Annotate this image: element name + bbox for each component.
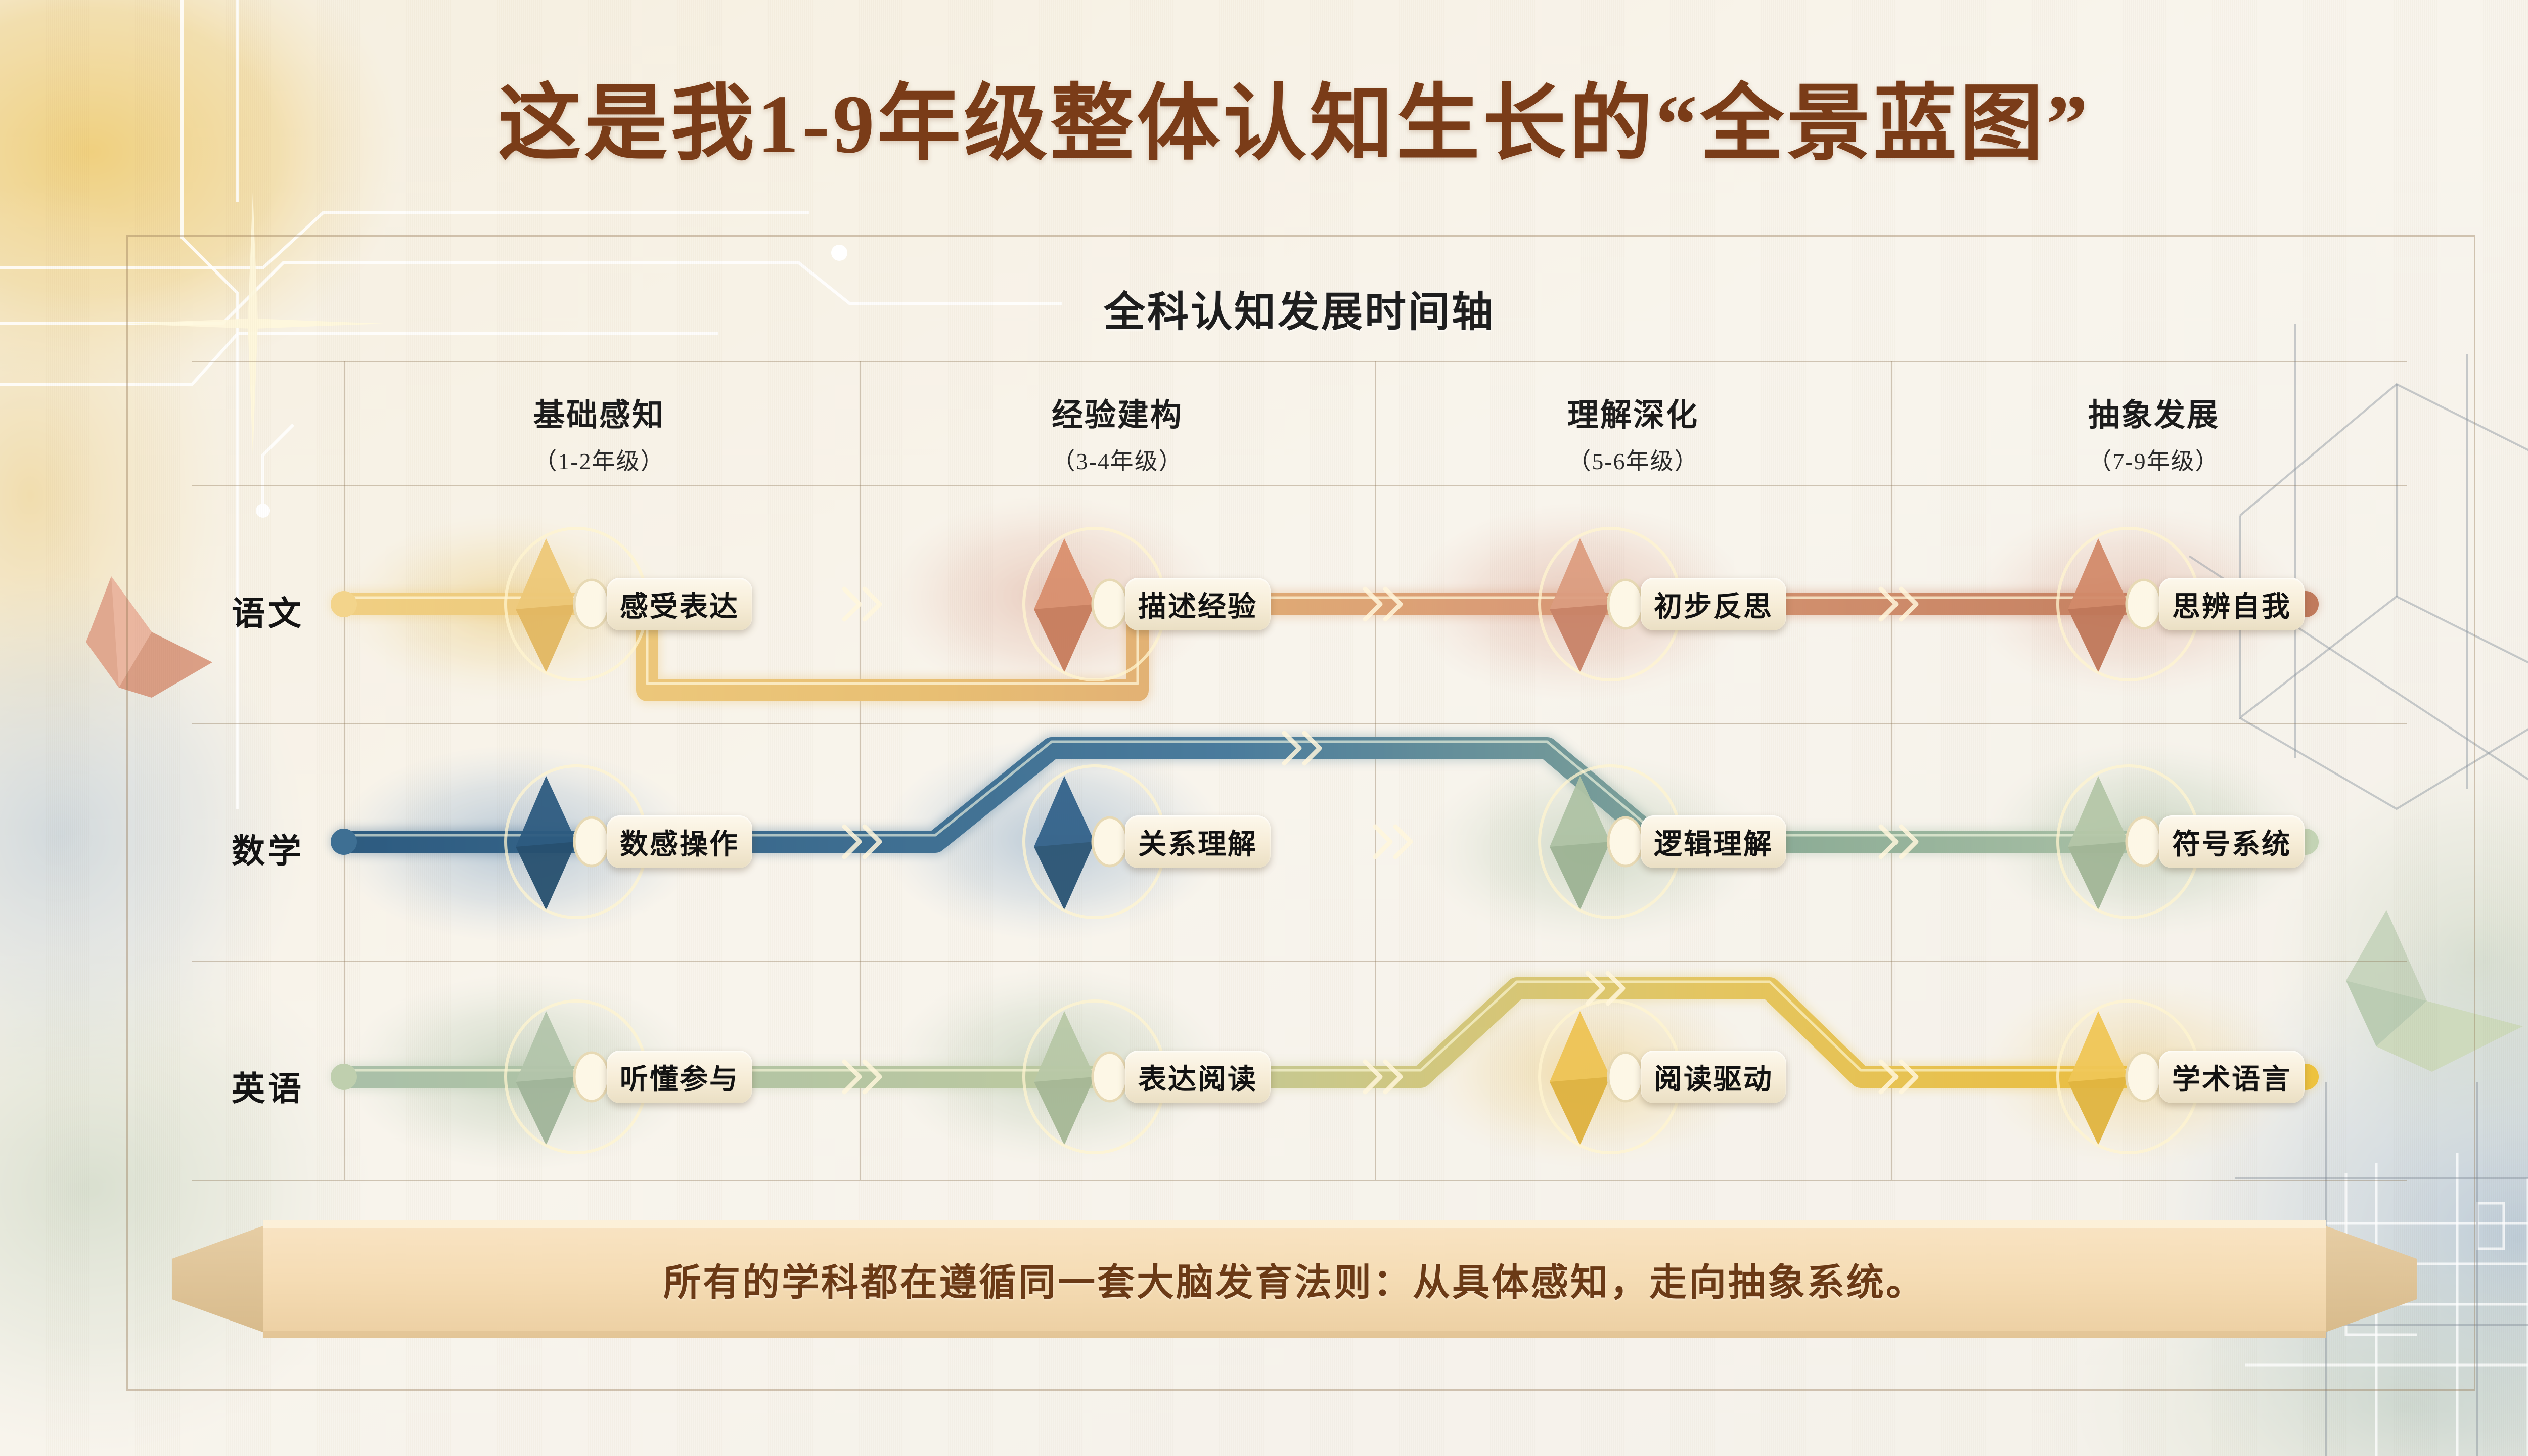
pathway-graphics (192, 255, 2407, 1180)
node-english-3[interactable]: 学术语言 (2159, 1051, 2305, 1103)
origami-crane-icon (2068, 1011, 2129, 1145)
banner-text: 所有的学科都在遵循同一套大脑发育法则：从具体感知，走向抽象系统。 (263, 1211, 2326, 1347)
node-chinese-1[interactable]: 描述经验 (1125, 578, 1271, 630)
origami-crane-icon (516, 538, 576, 672)
summary-banner: 所有的学科都在遵循同一套大脑发育法则：从具体感知，走向抽象系统。 (263, 1211, 2326, 1347)
node-chinese-2[interactable]: 初步反思 (1641, 578, 1786, 630)
page-title: 这是我1-9年级整体认知生长的“全景蓝图” (0, 56, 2528, 176)
node-math-0[interactable]: 数感操作 (607, 815, 752, 868)
node-english-0[interactable]: 听懂参与 (607, 1051, 752, 1103)
node-chinese-3[interactable]: 思辨自我 (2159, 578, 2305, 630)
origami-crane-icon (1034, 1011, 1095, 1145)
origami-crane-icon (1550, 1011, 1610, 1145)
timeline-chart: 全科认知发展时间轴 基础感知 （1-2年级） 经验建构 （3-4年级） 理解深化… (192, 255, 2407, 1180)
origami-crane-icon (1034, 538, 1095, 672)
origami-crane-icon (516, 1011, 576, 1145)
node-math-1[interactable]: 关系理解 (1125, 815, 1271, 868)
node-chinese-0[interactable]: 感受表达 (607, 578, 752, 630)
origami-crane-icon (1550, 538, 1610, 672)
origami-crane-icon (1034, 776, 1095, 910)
origami-crane-icon (516, 776, 576, 910)
grid-line-table-bottom (192, 1180, 2407, 1181)
origami-crane-icon (2068, 538, 2129, 672)
node-math-2[interactable]: 逻辑理解 (1641, 815, 1786, 868)
node-english-2[interactable]: 阅读驱动 (1641, 1051, 1786, 1103)
node-math-3[interactable]: 符号系统 (2159, 815, 2305, 868)
node-english-1[interactable]: 表达阅读 (1125, 1051, 1271, 1103)
origami-crane-icon (2068, 776, 2129, 910)
